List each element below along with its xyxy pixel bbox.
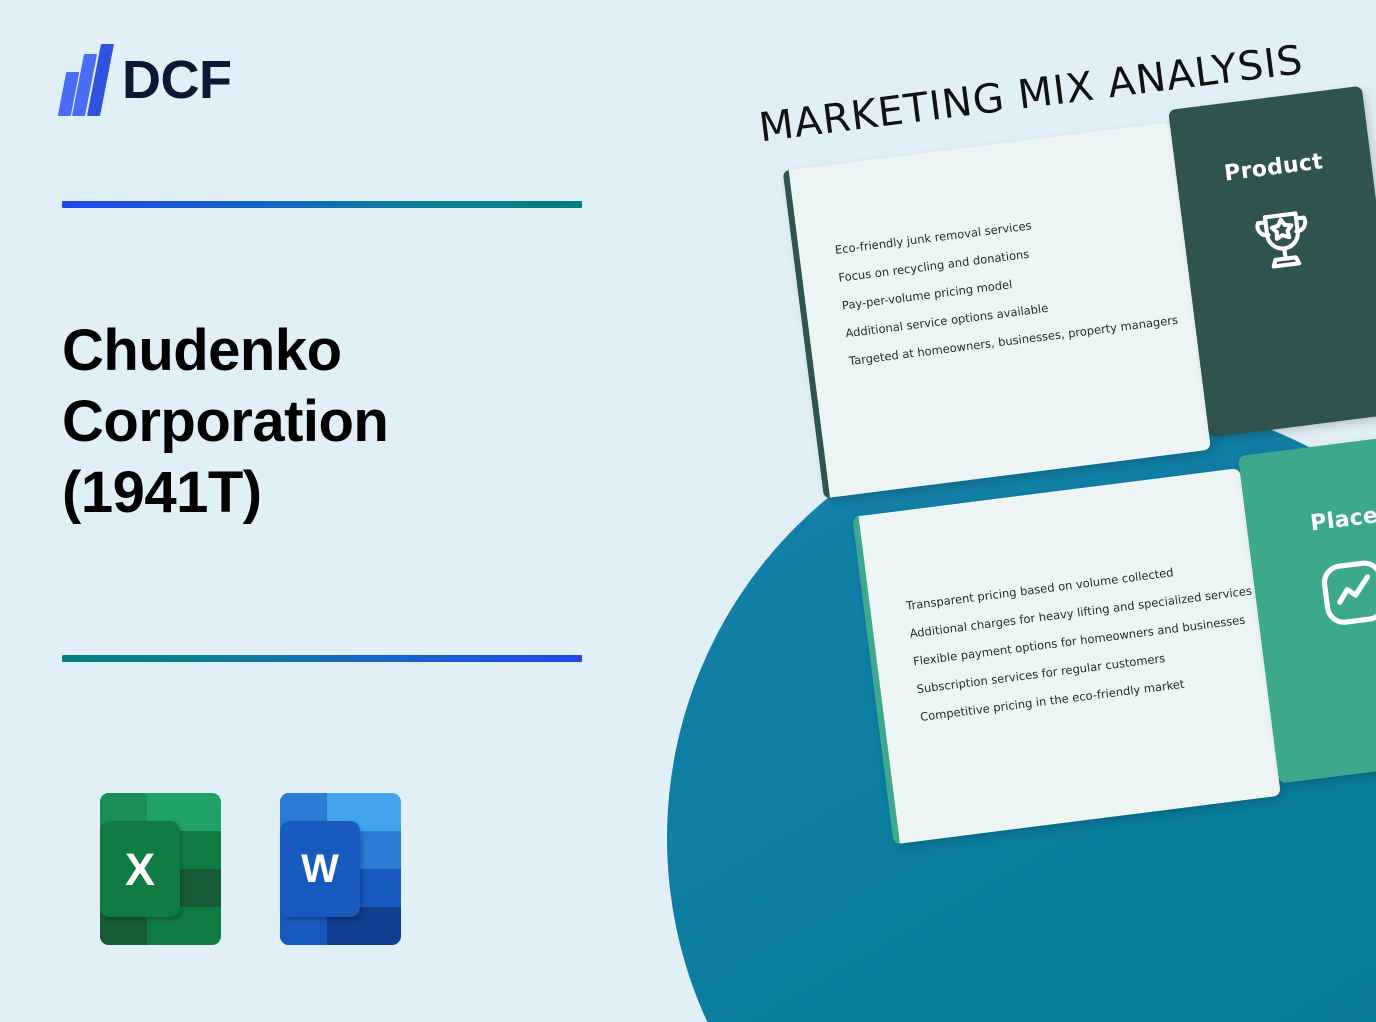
card-label-text: Place — [1309, 503, 1376, 536]
left-panel: DCF Chudenko Corporation (1941T) X W — [0, 0, 660, 1022]
divider-top — [62, 201, 582, 208]
page-title-line-3: (1941T) — [62, 458, 602, 529]
card-product-edge — [783, 170, 830, 498]
chart-square-icon — [1308, 547, 1376, 639]
product-label-group: Product — [1175, 143, 1376, 293]
brand-logo: DCF — [62, 44, 231, 116]
product-bullet-list: Eco-friendly junk removal services Focus… — [834, 201, 1183, 382]
place-label-group: Place — [1246, 495, 1376, 645]
divider-bottom — [62, 655, 582, 662]
card-label-text: Product — [1223, 149, 1325, 186]
excel-letter-tile: X — [100, 821, 180, 917]
excel-file-icon[interactable]: X — [100, 793, 221, 945]
brand-name: DCF — [122, 53, 231, 107]
card-product-text: Eco-friendly junk removal services Focus… — [783, 122, 1211, 498]
place-bullet-list: Transparent pricing based on volume coll… — [905, 557, 1254, 738]
file-format-icons: X W — [100, 793, 401, 945]
tilted-board: MARKETING MIX ANALYSIS Eco-friendly junk… — [717, 0, 1376, 673]
card-place-text: Transparent pricing based on volume coll… — [853, 468, 1281, 844]
word-letter-tile: W — [280, 821, 360, 917]
bar-chart-logo-icon — [62, 44, 108, 116]
page-title-line-1: Chudenko — [62, 316, 602, 387]
page-title: Chudenko Corporation (1941T) — [62, 316, 602, 528]
trophy-icon — [1237, 195, 1329, 287]
word-file-icon[interactable]: W — [280, 793, 401, 945]
page-title-line-2: Corporation — [62, 387, 602, 458]
marketing-mix-graphic: MARKETING MIX ANALYSIS Eco-friendly junk… — [612, 0, 1376, 1022]
